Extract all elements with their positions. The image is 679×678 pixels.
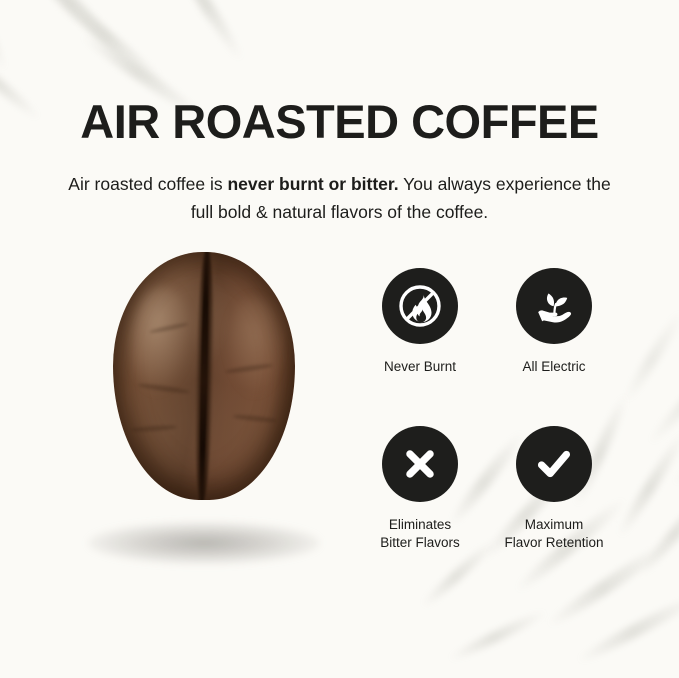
feature-eliminates-bitter-flavors[interactable]: Eliminates Bitter Flavors <box>357 426 483 552</box>
feature-badge[interactable] <box>382 426 458 502</box>
subtitle-text-emphasis: never burnt or bitter. <box>227 174 398 194</box>
subtitle-text-lead: Air roasted coffee is <box>68 174 227 194</box>
coffee-bean-illustration <box>60 240 350 570</box>
bean-texture-line <box>131 424 177 432</box>
bean-highlight-right <box>226 297 281 396</box>
bean-texture-line <box>233 413 277 423</box>
feature-label: Maximum Flavor Retention <box>504 516 603 552</box>
feature-maximum-flavor-retention[interactable]: Maximum Flavor Retention <box>491 426 617 552</box>
hand-holding-plant-icon <box>531 283 577 329</box>
feature-badge[interactable] <box>516 268 592 344</box>
feature-label: All Electric <box>522 358 585 376</box>
header: AIR ROASTED COFFEE Air roasted coffee is… <box>0 96 679 226</box>
feature-never-burnt[interactable]: Never Burnt <box>357 268 483 376</box>
feature-all-electric[interactable]: All Electric <box>491 268 617 376</box>
page-subtitle: Air roasted coffee is never burnt or bit… <box>60 170 620 226</box>
x-mark-icon <box>398 442 442 486</box>
feature-list: Never Burnt All Electric <box>357 268 617 552</box>
page-title: AIR ROASTED COFFEE <box>0 96 679 148</box>
feature-label: Never Burnt <box>384 358 456 376</box>
coffee-bean-drop-shadow <box>88 522 320 564</box>
feature-badge[interactable] <box>382 268 458 344</box>
check-mark-icon <box>531 441 577 487</box>
feature-label: Eliminates Bitter Flavors <box>380 516 460 552</box>
no-fire-icon <box>396 282 444 330</box>
coffee-bean <box>113 252 295 500</box>
feature-badge[interactable] <box>516 426 592 502</box>
bean-highlight-left <box>131 287 193 396</box>
